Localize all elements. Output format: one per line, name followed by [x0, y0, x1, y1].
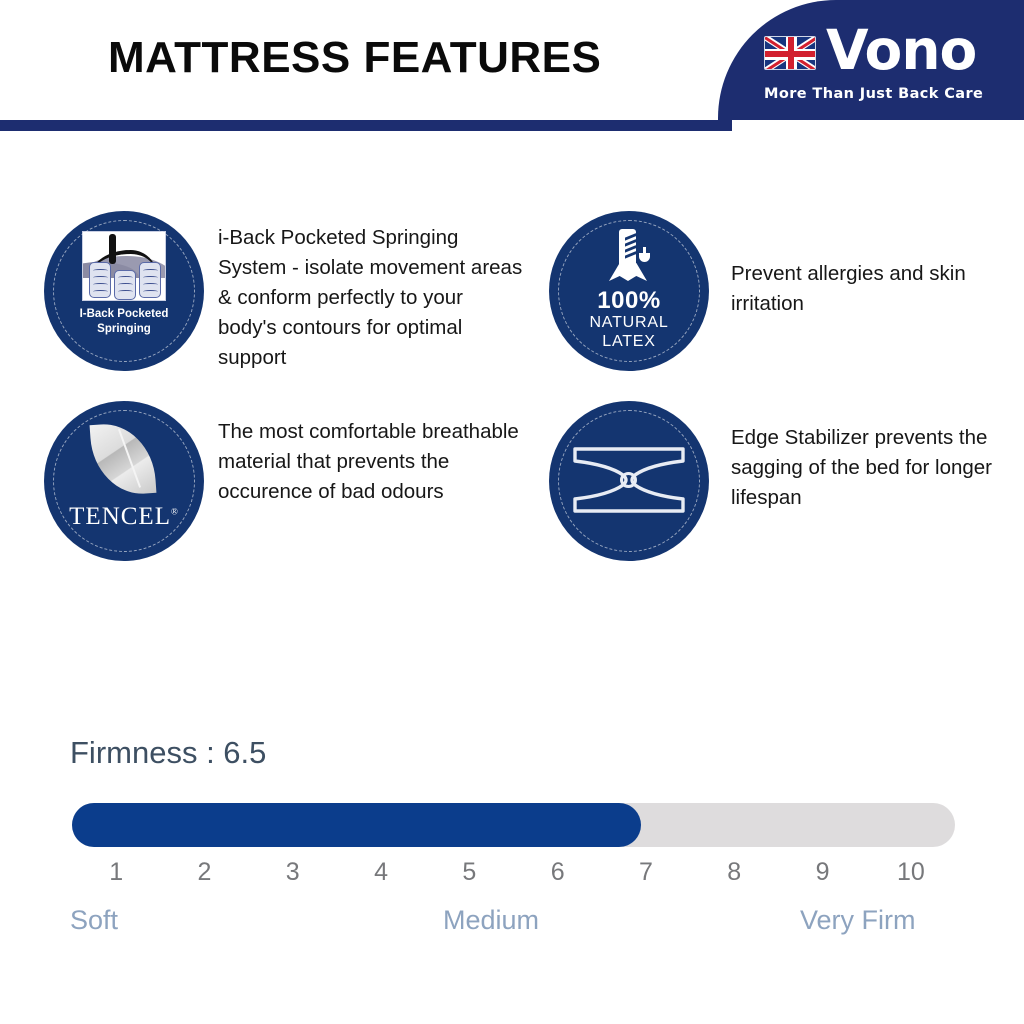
feature-item-tencel: TENCEL® The most comfortable breathable … — [44, 401, 524, 561]
firmness-tick-9: 9 — [816, 858, 830, 887]
feature-text-pocketed-springing: i-Back Pocketed Springing System - isola… — [218, 211, 524, 373]
100-percent-natural-latex-badge: 100% NATURAL LATEX — [549, 211, 709, 371]
firmness-tick-8: 8 — [727, 858, 741, 887]
scale-word-soft: Soft — [70, 905, 118, 936]
latex-sub-line-1: NATURAL — [563, 313, 695, 332]
i-back-pocketed-springing-badge: I-Back Pocketed Springing — [44, 211, 204, 371]
feature-item-edge-stabilizer: Edge Stabilizer prevents the sagging of … — [549, 401, 1019, 561]
firmness-tick-2: 2 — [197, 858, 211, 887]
feature-item-pocketed-springing: I-Back Pocketed Springing i-Back Pockete… — [44, 211, 524, 373]
tencel-wordmark: TENCEL® — [58, 503, 190, 531]
rubber-tree-tapping-icon — [609, 229, 651, 283]
latex-sub-label: NATURAL LATEX — [563, 313, 695, 351]
feature-item-natural-latex: 100% NATURAL LATEX Prevent allergies and… — [549, 211, 1019, 371]
firmness-tick-10: 10 — [897, 858, 925, 887]
badge-label-line-2: Springing — [58, 322, 190, 337]
registered-mark-icon: ® — [171, 507, 179, 517]
tencel-badge: TENCEL® — [44, 401, 204, 561]
firmness-tick-5: 5 — [462, 858, 476, 887]
scale-word-medium: Medium — [443, 905, 539, 936]
feature-text-natural-latex: Prevent allergies and skin irritation — [731, 211, 1019, 319]
firmness-tick-3: 3 — [286, 858, 300, 887]
header: MATTRESS FEATURES Vono More Than Just Ba… — [0, 0, 1024, 132]
firmness-scale-words: Soft Medium Very Firm — [0, 905, 1024, 945]
page-title: MATTRESS FEATURES — [108, 33, 601, 83]
badge-label-line-1: I-Back Pocketed — [58, 307, 190, 322]
latex-percent-label: 100% — [563, 287, 695, 315]
features-grid: I-Back Pocketed Springing i-Back Pockete… — [0, 196, 1024, 576]
brand-name: Vono — [826, 22, 976, 78]
feature-text-edge-stabilizer: Edge Stabilizer prevents the sagging of … — [731, 401, 1019, 513]
firmness-label: Firmness : 6.5 — [70, 735, 266, 771]
feature-text-tencel: The most comfortable breathable material… — [218, 401, 524, 507]
firmness-scale-numbers: 12345678910 — [72, 858, 955, 896]
firmness-tick-1: 1 — [109, 858, 123, 887]
firmness-tick-4: 4 — [374, 858, 388, 887]
brand-tagline: More Than Just Back Care — [764, 86, 1022, 102]
latex-sub-line-2: LATEX — [563, 332, 695, 351]
leaf-icon — [90, 421, 157, 497]
brand-logo-panel: Vono More Than Just Back Care — [718, 0, 1024, 120]
pocket-spring-icon — [82, 231, 166, 301]
edge-stabilizer-badge — [549, 401, 709, 561]
firmness-tick-6: 6 — [551, 858, 565, 887]
mattress-features-infographic: MATTRESS FEATURES Vono More Than Just Ba… — [0, 0, 1024, 1024]
pocket-spring-badge-label: I-Back Pocketed Springing — [58, 307, 190, 337]
edge-stabilizer-spring-icon — [569, 441, 689, 519]
firmness-slider-fill[interactable] — [72, 803, 641, 847]
scale-word-very-firm: Very Firm — [800, 905, 916, 936]
firmness-slider-track[interactable] — [72, 803, 955, 847]
header-divider — [0, 120, 732, 131]
brand-logo: Vono More Than Just Back Care — [764, 22, 1022, 112]
tencel-label: TENCEL — [69, 503, 171, 530]
uk-flag-icon — [764, 36, 816, 70]
firmness-tick-7: 7 — [639, 858, 653, 887]
